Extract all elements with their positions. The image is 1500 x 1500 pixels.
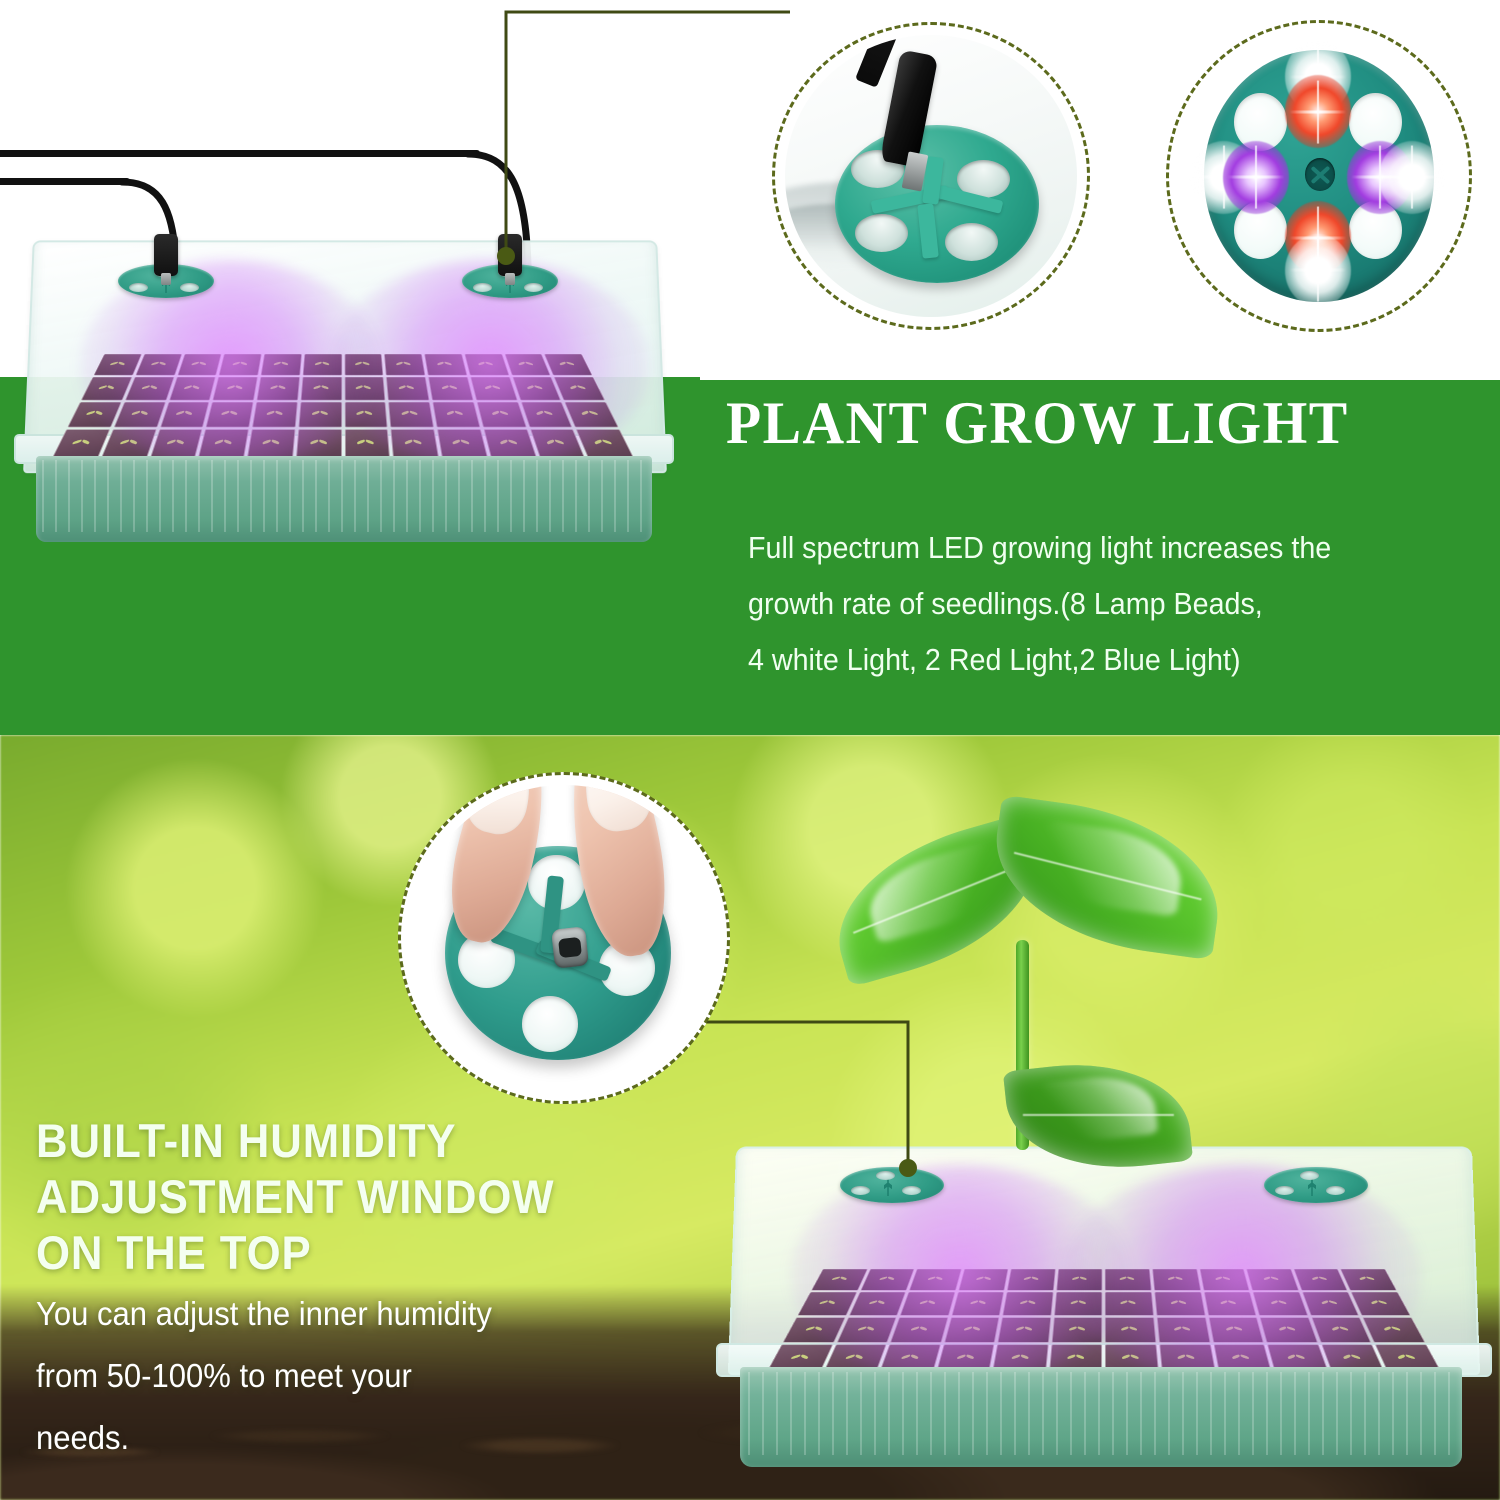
bottom-body-line-2: from 50-100% to meet your: [36, 1345, 694, 1407]
bottom-body-line-3: needs.: [36, 1407, 694, 1469]
vent-hole: [522, 996, 579, 1052]
bottom-heading-line-3: ON THE TOP: [36, 1225, 650, 1281]
bottom-heading-line-2: ADJUSTMENT WINDOW: [36, 1169, 650, 1225]
bottom-body-line-1: You can adjust the inner humidity: [36, 1283, 694, 1345]
detail-circle-humidity-dial: [398, 772, 730, 1104]
bottom-heading-line-1: BUILT-IN HUMIDITY: [36, 1113, 650, 1169]
detail-circle-photo: [411, 785, 717, 1091]
bottom-heading: BUILT-IN HUMIDITY ADJUSTMENT WINDOW ON T…: [36, 1113, 650, 1281]
bottom-body-copy: You can adjust the inner humidity from 5…: [36, 1283, 694, 1469]
product-infographic: PLANT GROW LIGHT Full spectrum LED growi…: [0, 0, 1500, 1500]
usb-c-port: [551, 926, 589, 968]
